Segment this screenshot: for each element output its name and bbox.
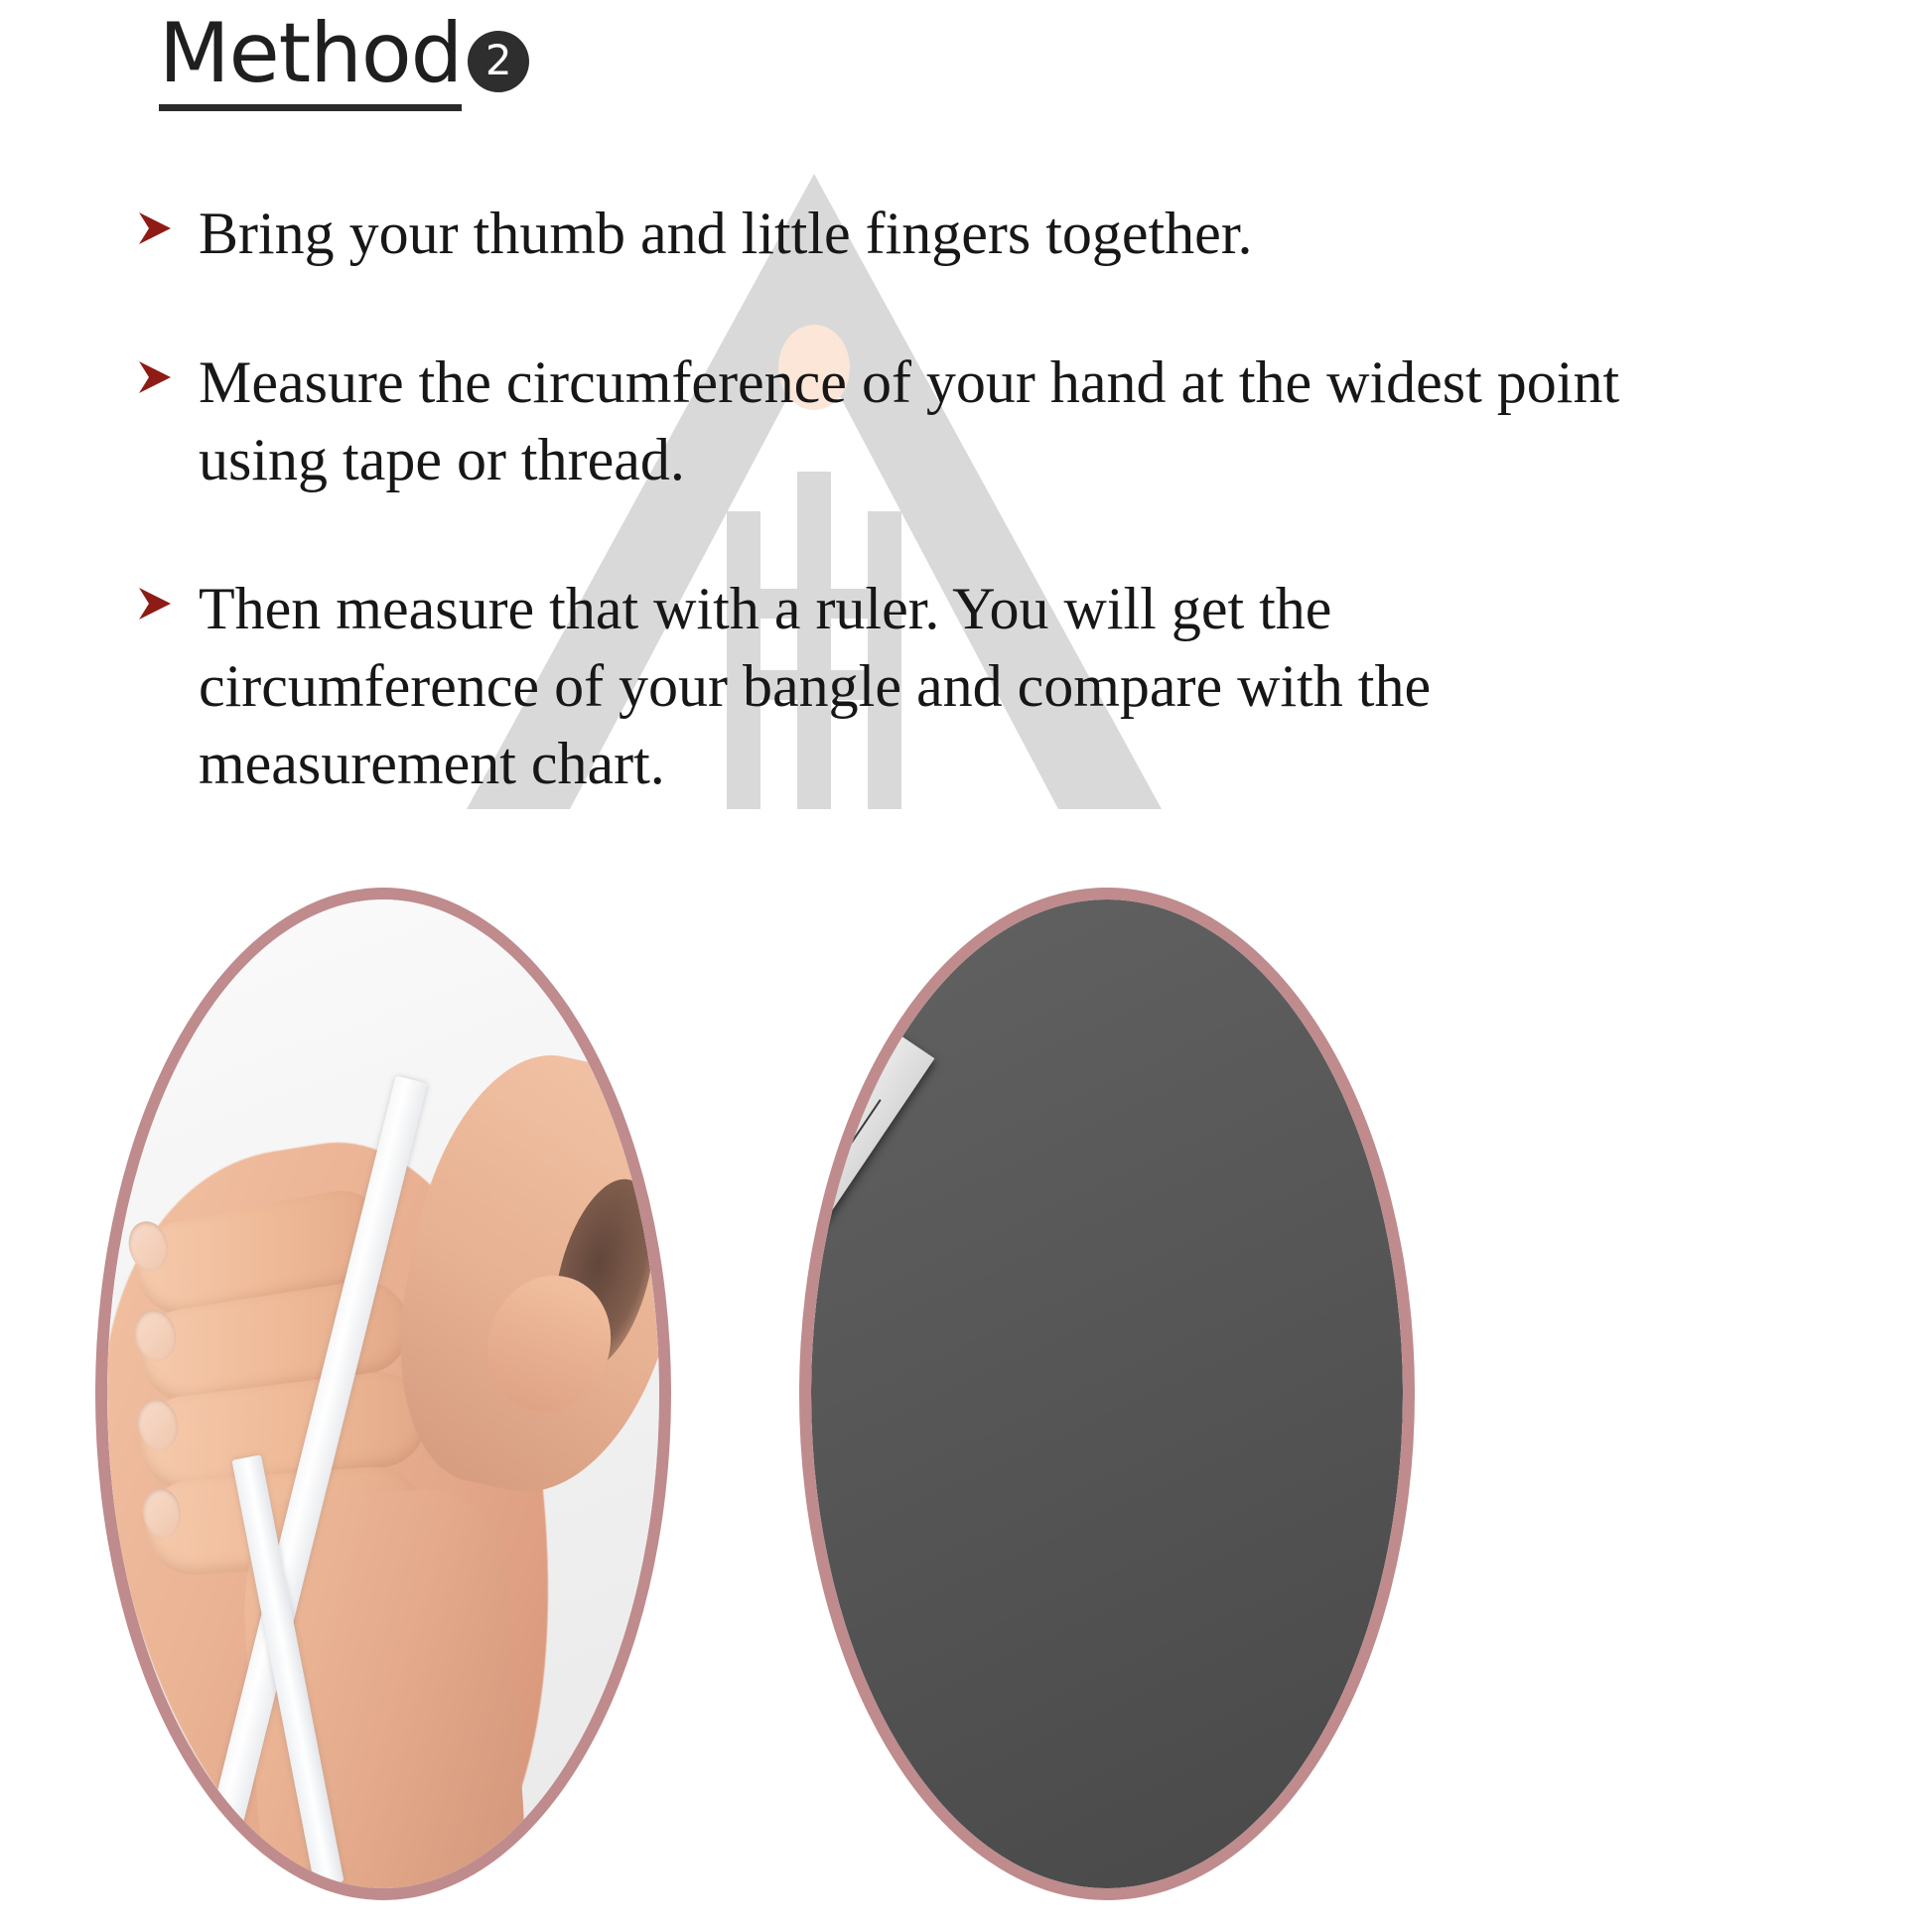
ruler-measuring-photo: 1 2 3 4 CM [799, 888, 1415, 1900]
list-item: Bring your thumb and little fingers toge… [137, 195, 1825, 272]
arrow-bullet-icon [137, 344, 199, 397]
arrow-bullet-icon [137, 570, 199, 623]
list-item-text: Bring your thumb and little fingers toge… [199, 195, 1252, 272]
instruction-list: Bring your thumb and little fingers toge… [137, 195, 1825, 874]
page-title-text: Method [159, 8, 462, 111]
arrow-bullet-icon [137, 195, 199, 248]
list-item: Then measure that with a ruler. You will… [137, 570, 1825, 802]
list-item-text: Then measure that with a ruler. You will… [199, 570, 1668, 802]
photo-row: 1 2 3 4 CM [0, 878, 1932, 1932]
method-number-badge-text: 2 [485, 36, 512, 84]
hand-with-tape-photo [95, 888, 671, 1900]
method-number-badge: 2 [468, 31, 529, 92]
list-item-text: Measure the circumference of your hand a… [199, 344, 1668, 498]
page-title: Method 2 [159, 8, 529, 111]
method-2-instruction-card: Method 2 Bring your thumb and little fin… [0, 0, 1932, 1932]
list-item: Measure the circumference of your hand a… [137, 344, 1825, 498]
